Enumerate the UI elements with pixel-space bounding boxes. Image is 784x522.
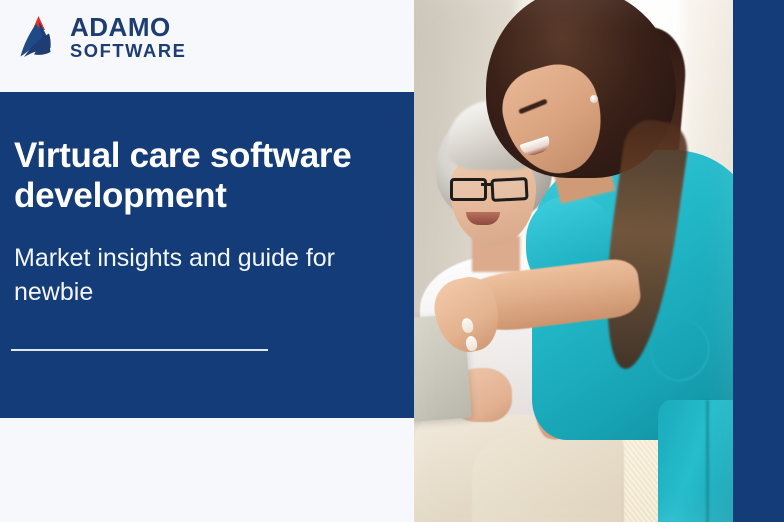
hero-panel: Virtual care software development Market…: [0, 92, 414, 418]
brand-name-primary: ADAMO: [70, 14, 188, 40]
brand-logo[interactable]: ADAMO SOFTWARE: [12, 8, 242, 66]
banner-canvas: ADAMO SOFTWARE Virtual care software dev…: [0, 0, 784, 522]
photo-patient-lap-highlight: [472, 430, 622, 522]
glasses-lens-left: [450, 178, 487, 201]
photo-patient-glasses: [450, 178, 530, 195]
footer-strip: [0, 418, 414, 522]
brand-name-secondary: SOFTWARE: [70, 42, 186, 61]
photo-nurse-earring: [590, 95, 598, 103]
hero-headline: Virtual care software development: [14, 136, 406, 216]
hero-photo: [414, 0, 733, 522]
right-accent-band: [733, 0, 784, 522]
photo-nurse-pants-seam: [706, 400, 709, 522]
glasses-lens-right: [490, 177, 528, 202]
hero-subheadline: Market insights and guide for newbie: [14, 242, 406, 310]
photo-nurse-scrub-pants: [658, 400, 733, 522]
brand-wordmark: ADAMO SOFTWARE: [70, 14, 188, 61]
hero-divider: [11, 349, 268, 351]
adamo-swoosh-icon: [12, 11, 64, 63]
